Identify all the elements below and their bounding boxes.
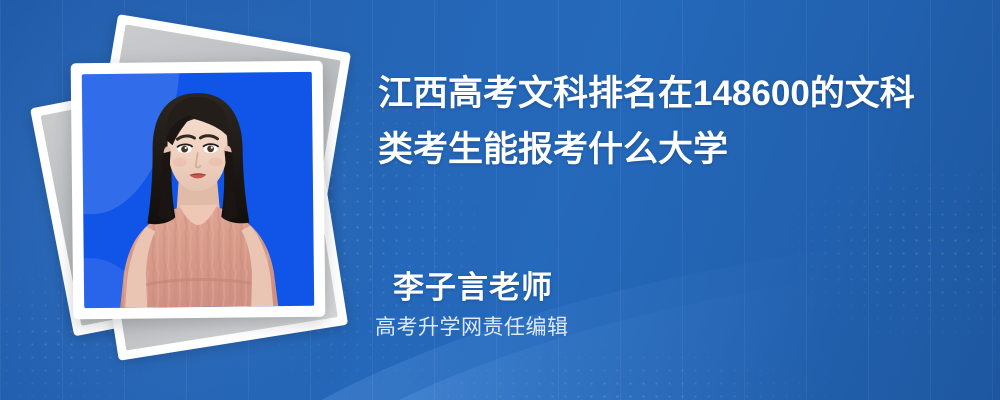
article-header-banner: 江西高考文科排名在148600的文科 类考生能报考什么大学 李子言老师 高考升学… <box>0 0 1000 400</box>
author-portrait-illustration <box>82 72 314 308</box>
author-role: 高考升学网责任编辑 <box>375 312 933 344</box>
article-title-line-2: 类考生能报考什么大学 <box>378 122 978 178</box>
photo-card-stack <box>72 62 324 318</box>
author-byline: 李子言老师 高考升学网责任编辑 <box>393 268 933 344</box>
article-title-block: 江西高考文科排名在148600的文科 类考生能报考什么大学 <box>378 66 978 178</box>
author-photo-card <box>71 61 326 320</box>
author-photo <box>82 72 314 308</box>
article-title-line-1: 江西高考文科排名在148600的文科 <box>378 66 978 122</box>
author-name: 李子言老师 <box>393 268 933 308</box>
